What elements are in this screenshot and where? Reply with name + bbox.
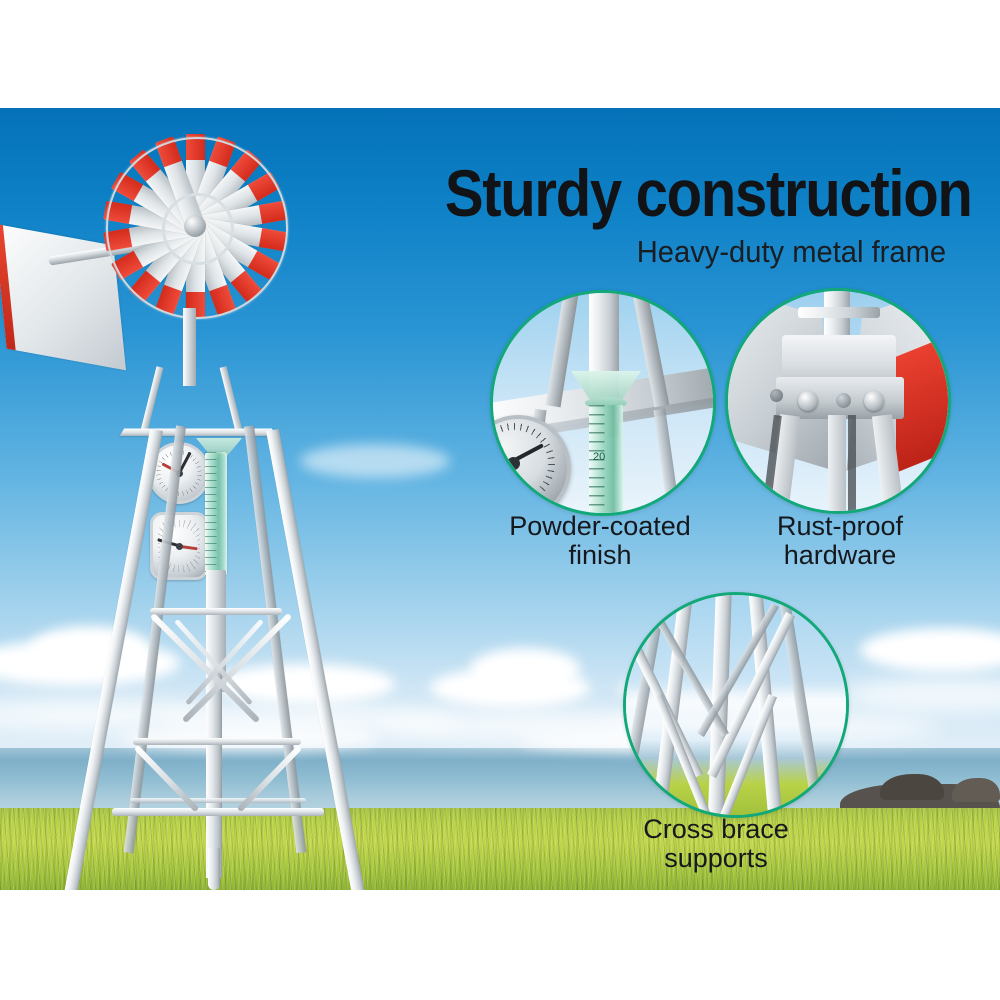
subheadline: Heavy-duty metal frame	[637, 236, 946, 267]
rain-gauge-tube	[205, 452, 227, 576]
windmill-product	[0, 108, 420, 890]
tower-center-foot	[208, 848, 220, 890]
tower-ring-low-back	[130, 798, 306, 803]
caption-cross-brace: Cross brace supports	[566, 815, 866, 873]
tower-ring-top	[150, 608, 282, 615]
headline: Sturdy construction	[445, 160, 972, 226]
callout-powder-coated: 20	[490, 290, 716, 516]
callout-rust-proof	[725, 288, 951, 514]
tower-ring-low	[112, 808, 324, 816]
tower-ring-mid	[133, 738, 301, 745]
caption-rust-proof: Rust-proof hardware	[700, 512, 980, 570]
callout-cross-brace	[623, 592, 849, 818]
wheel-hub	[184, 215, 206, 237]
windmill-head	[95, 126, 295, 326]
banner-canvas: 20	[0, 0, 1000, 1000]
head-yoke	[148, 366, 238, 434]
